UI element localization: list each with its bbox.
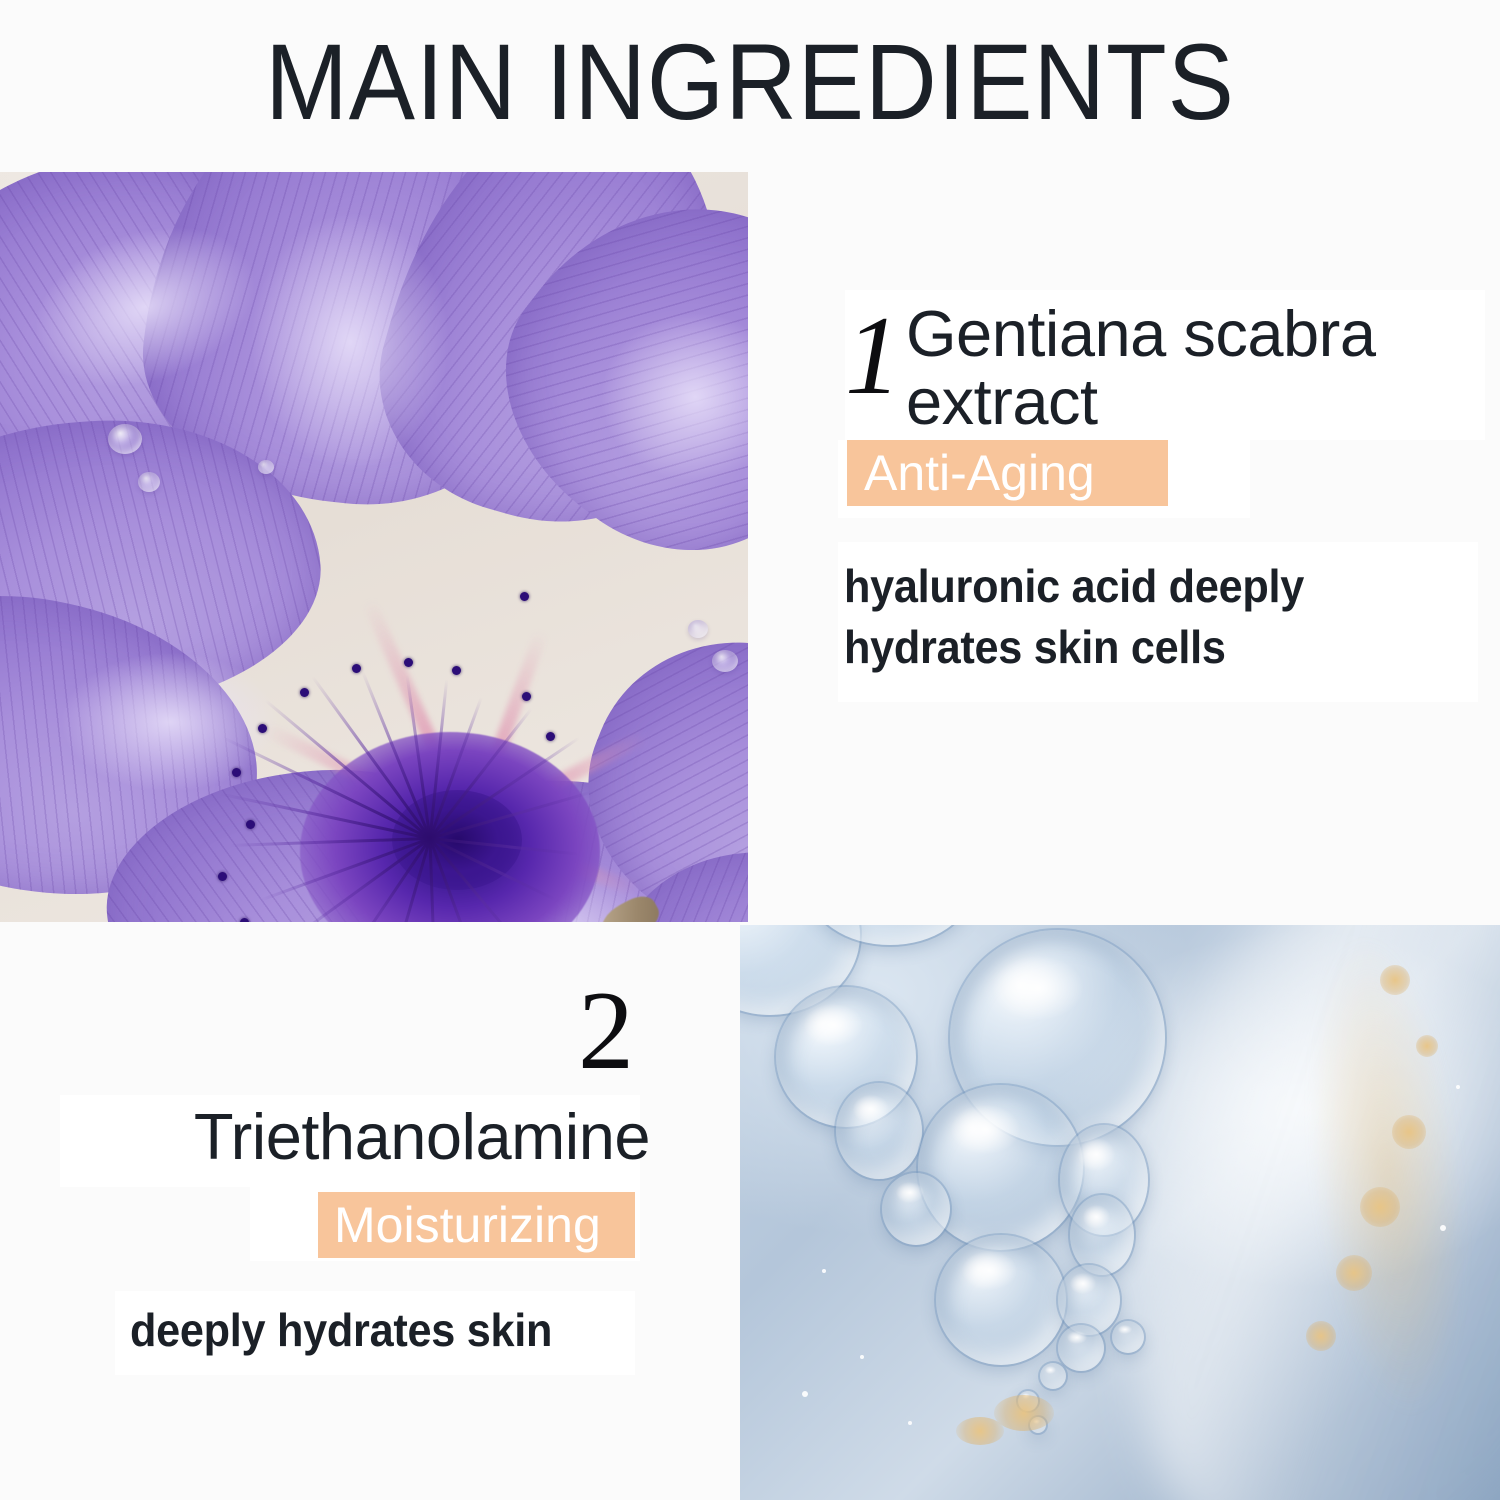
stamen-tip (246, 820, 255, 829)
stamen-tip (546, 732, 555, 741)
gold-particle (1380, 965, 1410, 995)
sparkle (822, 1269, 826, 1273)
stamen-tip (404, 658, 413, 667)
stamen-tip (258, 724, 267, 733)
water-droplet (258, 460, 274, 474)
ingredients-infographic: MAIN INGREDIENTS (0, 0, 1500, 1500)
sparkle (1456, 1085, 1460, 1089)
bubble (1112, 1321, 1144, 1353)
gold-particle (1416, 1035, 1438, 1057)
bubble (882, 1173, 950, 1245)
bubbles-image (740, 925, 1500, 1500)
gold-particle (1392, 1115, 1426, 1149)
water-droplet (712, 650, 738, 672)
sparkle (802, 1391, 808, 1397)
ingredient-1-name: Gentiana scabra extract (906, 300, 1486, 435)
page-title: MAIN INGREDIENTS (60, 22, 1440, 142)
stamen-tip (520, 592, 529, 601)
bubble (1070, 1195, 1134, 1275)
gold-particle (1360, 1187, 1400, 1227)
bubble (1040, 1363, 1066, 1389)
ingredient-2-number: 2 (578, 975, 634, 1087)
ingredient-1-panel (748, 172, 1500, 922)
ingredient-2-name: Triethanolamine (60, 1103, 650, 1171)
stamen-tip (240, 918, 249, 922)
bubble (936, 1235, 1066, 1365)
bubble (1058, 1325, 1104, 1371)
ingredient-1-description: hyaluronic acid deeply hydrates skin cel… (844, 556, 1446, 677)
sparkle (1440, 1225, 1446, 1231)
ingredient-1-number: 1 (845, 300, 901, 412)
sparkle (860, 1355, 864, 1359)
stamen-tip (232, 768, 241, 777)
water-droplet (138, 472, 160, 492)
stamen-tip (522, 692, 531, 701)
ingredient-2-description: deeply hydrates skin (130, 1300, 656, 1361)
stamen-tip (300, 688, 309, 697)
stamen-tip (352, 664, 361, 673)
bubble (1058, 1265, 1120, 1335)
sparkle (908, 1421, 912, 1425)
stamen-tip (452, 666, 461, 675)
gold-particle (1336, 1255, 1372, 1291)
ingredient-1-badge: Anti-Aging (847, 440, 1168, 506)
flower-image (0, 172, 748, 922)
water-droplet (688, 620, 708, 638)
bubble (836, 1083, 922, 1179)
stamen-tip (218, 872, 227, 881)
water-droplet (108, 424, 142, 454)
gold-particle (956, 1417, 1004, 1445)
gold-particle (1306, 1321, 1336, 1351)
ingredient-2-badge: Moisturizing (318, 1192, 635, 1258)
gold-particle (994, 1395, 1054, 1431)
